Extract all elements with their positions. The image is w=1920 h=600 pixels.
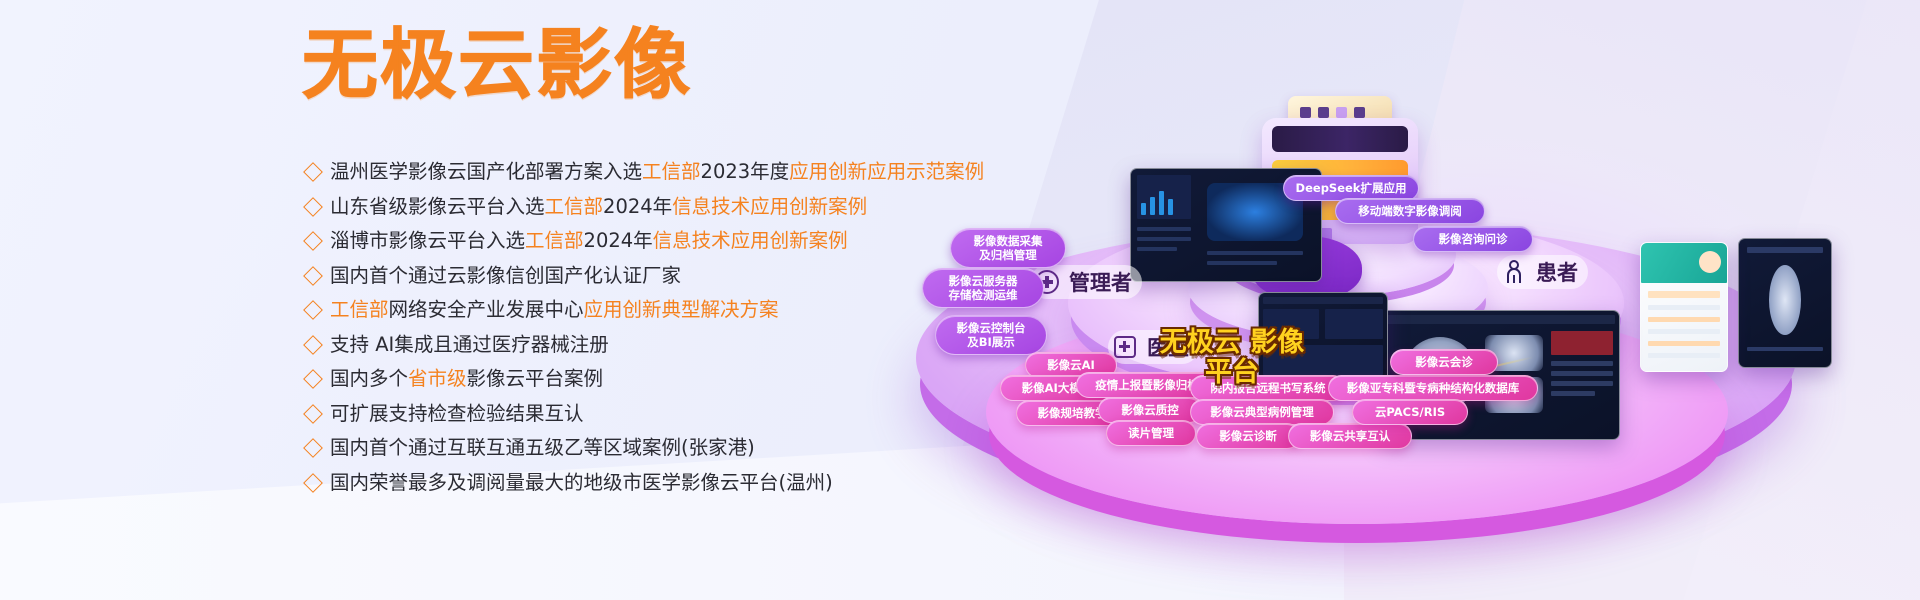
diamond-bullet-icon bbox=[303, 231, 323, 251]
feature-bullet-item: 温州医学影像云国产化部署方案入选工信部2023年度应用创新应用示范案例 bbox=[306, 158, 926, 193]
diamond-bullet-icon bbox=[303, 438, 323, 458]
page-title: 无极云影像 bbox=[302, 27, 692, 103]
feature-bullet-text: 支持 AI集成且通过医疗器械注册 bbox=[330, 331, 609, 359]
role-patient-label: 患者 bbox=[1536, 257, 1578, 287]
feature-bullet-item: 山东省级影像云平台入选工信部2024年信息技术应用创新案例 bbox=[306, 193, 926, 228]
pill-image-console-bi[interactable]: 影像云控制台 及BI展示 bbox=[935, 315, 1047, 355]
pill-image-sharing[interactable]: 影像云共享互认 bbox=[1288, 423, 1412, 449]
pill-film-reading[interactable]: 读片管理 bbox=[1106, 420, 1196, 446]
feature-bullet-item: 国内荣誉最多及调阅量最大的地级市医学影像云平台(温州) bbox=[306, 469, 926, 504]
plain-phrase: 山东省级影像云平台入选 bbox=[330, 195, 545, 218]
screen-patient-app bbox=[1640, 242, 1728, 372]
feature-bullet-item: 可扩展支持检查检验结果互认 bbox=[306, 400, 926, 435]
pill-mobile-image-access[interactable]: 移动端数字影像调阅 bbox=[1335, 198, 1485, 224]
diamond-bullet-icon bbox=[303, 197, 323, 217]
diamond-bullet-icon bbox=[303, 335, 323, 355]
highlighted-phrase: 工信部 bbox=[545, 195, 604, 218]
diamond-bullet-icon bbox=[303, 300, 323, 320]
feature-bullet-item: 国内首个通过云影像信创国产化认证厂家 bbox=[306, 262, 926, 297]
pill-typical-case-mgmt[interactable]: 影像云典型病例管理 bbox=[1190, 399, 1334, 425]
highlighted-phrase: 信息技术应用创新案例 bbox=[653, 229, 848, 252]
pill-subspecialty-db[interactable]: 影像亚专科暨专病种结构化数据库 bbox=[1328, 375, 1538, 401]
feature-bullet-text: 国内多个省市级影像云平台案例 bbox=[330, 365, 603, 393]
doctor-badge-icon bbox=[1112, 334, 1138, 360]
left-content-panel: 无极云影像 温州医学影像云国产化部署方案入选工信部2023年度应用创新应用示范案… bbox=[0, 0, 930, 600]
person-icon bbox=[1501, 259, 1527, 285]
feature-bullet-item: 支持 AI集成且通过医疗器械注册 bbox=[306, 331, 926, 366]
plain-phrase: 网络安全产业发展中心 bbox=[389, 298, 584, 321]
highlighted-phrase: 应用创新典型解决方案 bbox=[584, 298, 779, 321]
pill-image-consult-meeting[interactable]: 影像云会诊 bbox=[1390, 349, 1498, 375]
feature-bullet-item: 淄博市影像云平台入选工信部2024年信息技术应用创新案例 bbox=[306, 227, 926, 262]
diamond-bullet-icon bbox=[303, 369, 323, 389]
feature-bullet-text: 山东省级影像云平台入选工信部2024年信息技术应用创新案例 bbox=[330, 193, 867, 221]
plain-phrase: 国内首个通过云影像信创国产化认证厂家 bbox=[330, 264, 681, 287]
feature-bullet-item: 工信部网络安全产业发展中心应用创新典型解决方案 bbox=[306, 296, 926, 331]
pill-image-diagnosis[interactable]: 影像云诊断 bbox=[1196, 423, 1300, 449]
banner-stage: 无极云影像 温州医学影像云国产化部署方案入选工信部2023年度应用创新应用示范案… bbox=[0, 0, 1920, 600]
feature-bullet-text: 工信部网络安全产业发展中心应用创新典型解决方案 bbox=[330, 296, 779, 324]
diamond-bullet-icon bbox=[303, 473, 323, 493]
pill-image-consultation[interactable]: 影像咨询问诊 bbox=[1413, 226, 1533, 252]
plain-phrase: 2024年 bbox=[603, 195, 672, 218]
feature-bullet-text: 国内荣誉最多及调阅量最大的地级市医学影像云平台(温州) bbox=[330, 469, 833, 497]
feature-bullet-text: 淄博市影像云平台入选工信部2024年信息技术应用创新案例 bbox=[330, 227, 848, 255]
feature-bullet-text: 可扩展支持检查检验结果互认 bbox=[330, 400, 584, 428]
feature-bullet-list: 温州医学影像云国产化部署方案入选工信部2023年度应用创新应用示范案例山东省级影… bbox=[306, 158, 926, 503]
plain-phrase: 2023年度 bbox=[701, 160, 790, 183]
feature-bullet-item: 国内首个通过互联互通五级乙等区域案例(张家港) bbox=[306, 434, 926, 469]
plain-phrase: 国内荣誉最多及调阅量最大的地级市医学影像云平台(温州) bbox=[330, 471, 833, 494]
plain-phrase: 2024年 bbox=[584, 229, 653, 252]
diamond-bullet-icon bbox=[303, 162, 323, 182]
plain-phrase: 可扩展支持检查检验结果互认 bbox=[330, 402, 584, 425]
highlighted-phrase: 工信部 bbox=[330, 298, 389, 321]
highlighted-phrase: 工信部 bbox=[642, 160, 701, 183]
diamond-bullet-icon bbox=[303, 266, 323, 286]
pill-image-capture-archive[interactable]: 影像数据采集 及归档管理 bbox=[950, 228, 1066, 268]
plain-phrase: 国内多个 bbox=[330, 367, 408, 390]
plain-phrase: 国内首个通过互联互通五级乙等区域案例(张家港) bbox=[330, 436, 755, 459]
role-patient[interactable]: 患者 bbox=[1497, 255, 1588, 289]
screen-xray-mobile bbox=[1738, 238, 1832, 368]
highlighted-phrase: 省市级 bbox=[408, 367, 467, 390]
role-admin[interactable]: 管理者 bbox=[1030, 265, 1142, 299]
pill-cloud-pacs-ris[interactable]: 云PACS/RIS bbox=[1352, 399, 1468, 425]
plain-phrase: 淄博市影像云平台入选 bbox=[330, 229, 525, 252]
plain-phrase: 温州医学影像云国产化部署方案入选 bbox=[330, 160, 642, 183]
role-admin-label: 管理者 bbox=[1069, 267, 1132, 297]
highlighted-phrase: 工信部 bbox=[525, 229, 584, 252]
feature-bullet-text: 温州医学影像云国产化部署方案入选工信部2023年度应用创新应用示范案例 bbox=[330, 158, 984, 186]
feature-bullet-text: 国内首个通过云影像信创国产化认证厂家 bbox=[330, 262, 681, 290]
diamond-bullet-icon bbox=[303, 404, 323, 424]
feature-bullet-text: 国内首个通过互联互通五级乙等区域案例(张家港) bbox=[330, 434, 755, 462]
highlighted-phrase: 信息技术应用创新案例 bbox=[672, 195, 867, 218]
plain-phrase: 影像云平台案例 bbox=[467, 367, 604, 390]
pill-image-server-storage[interactable]: 影像云服务器 存储检测运维 bbox=[922, 268, 1044, 308]
platform-center-label: 无极云 影像平台 bbox=[1152, 328, 1312, 388]
feature-bullet-item: 国内多个省市级影像云平台案例 bbox=[306, 365, 926, 400]
plain-phrase: 支持 AI集成且通过医疗器械注册 bbox=[330, 333, 609, 356]
